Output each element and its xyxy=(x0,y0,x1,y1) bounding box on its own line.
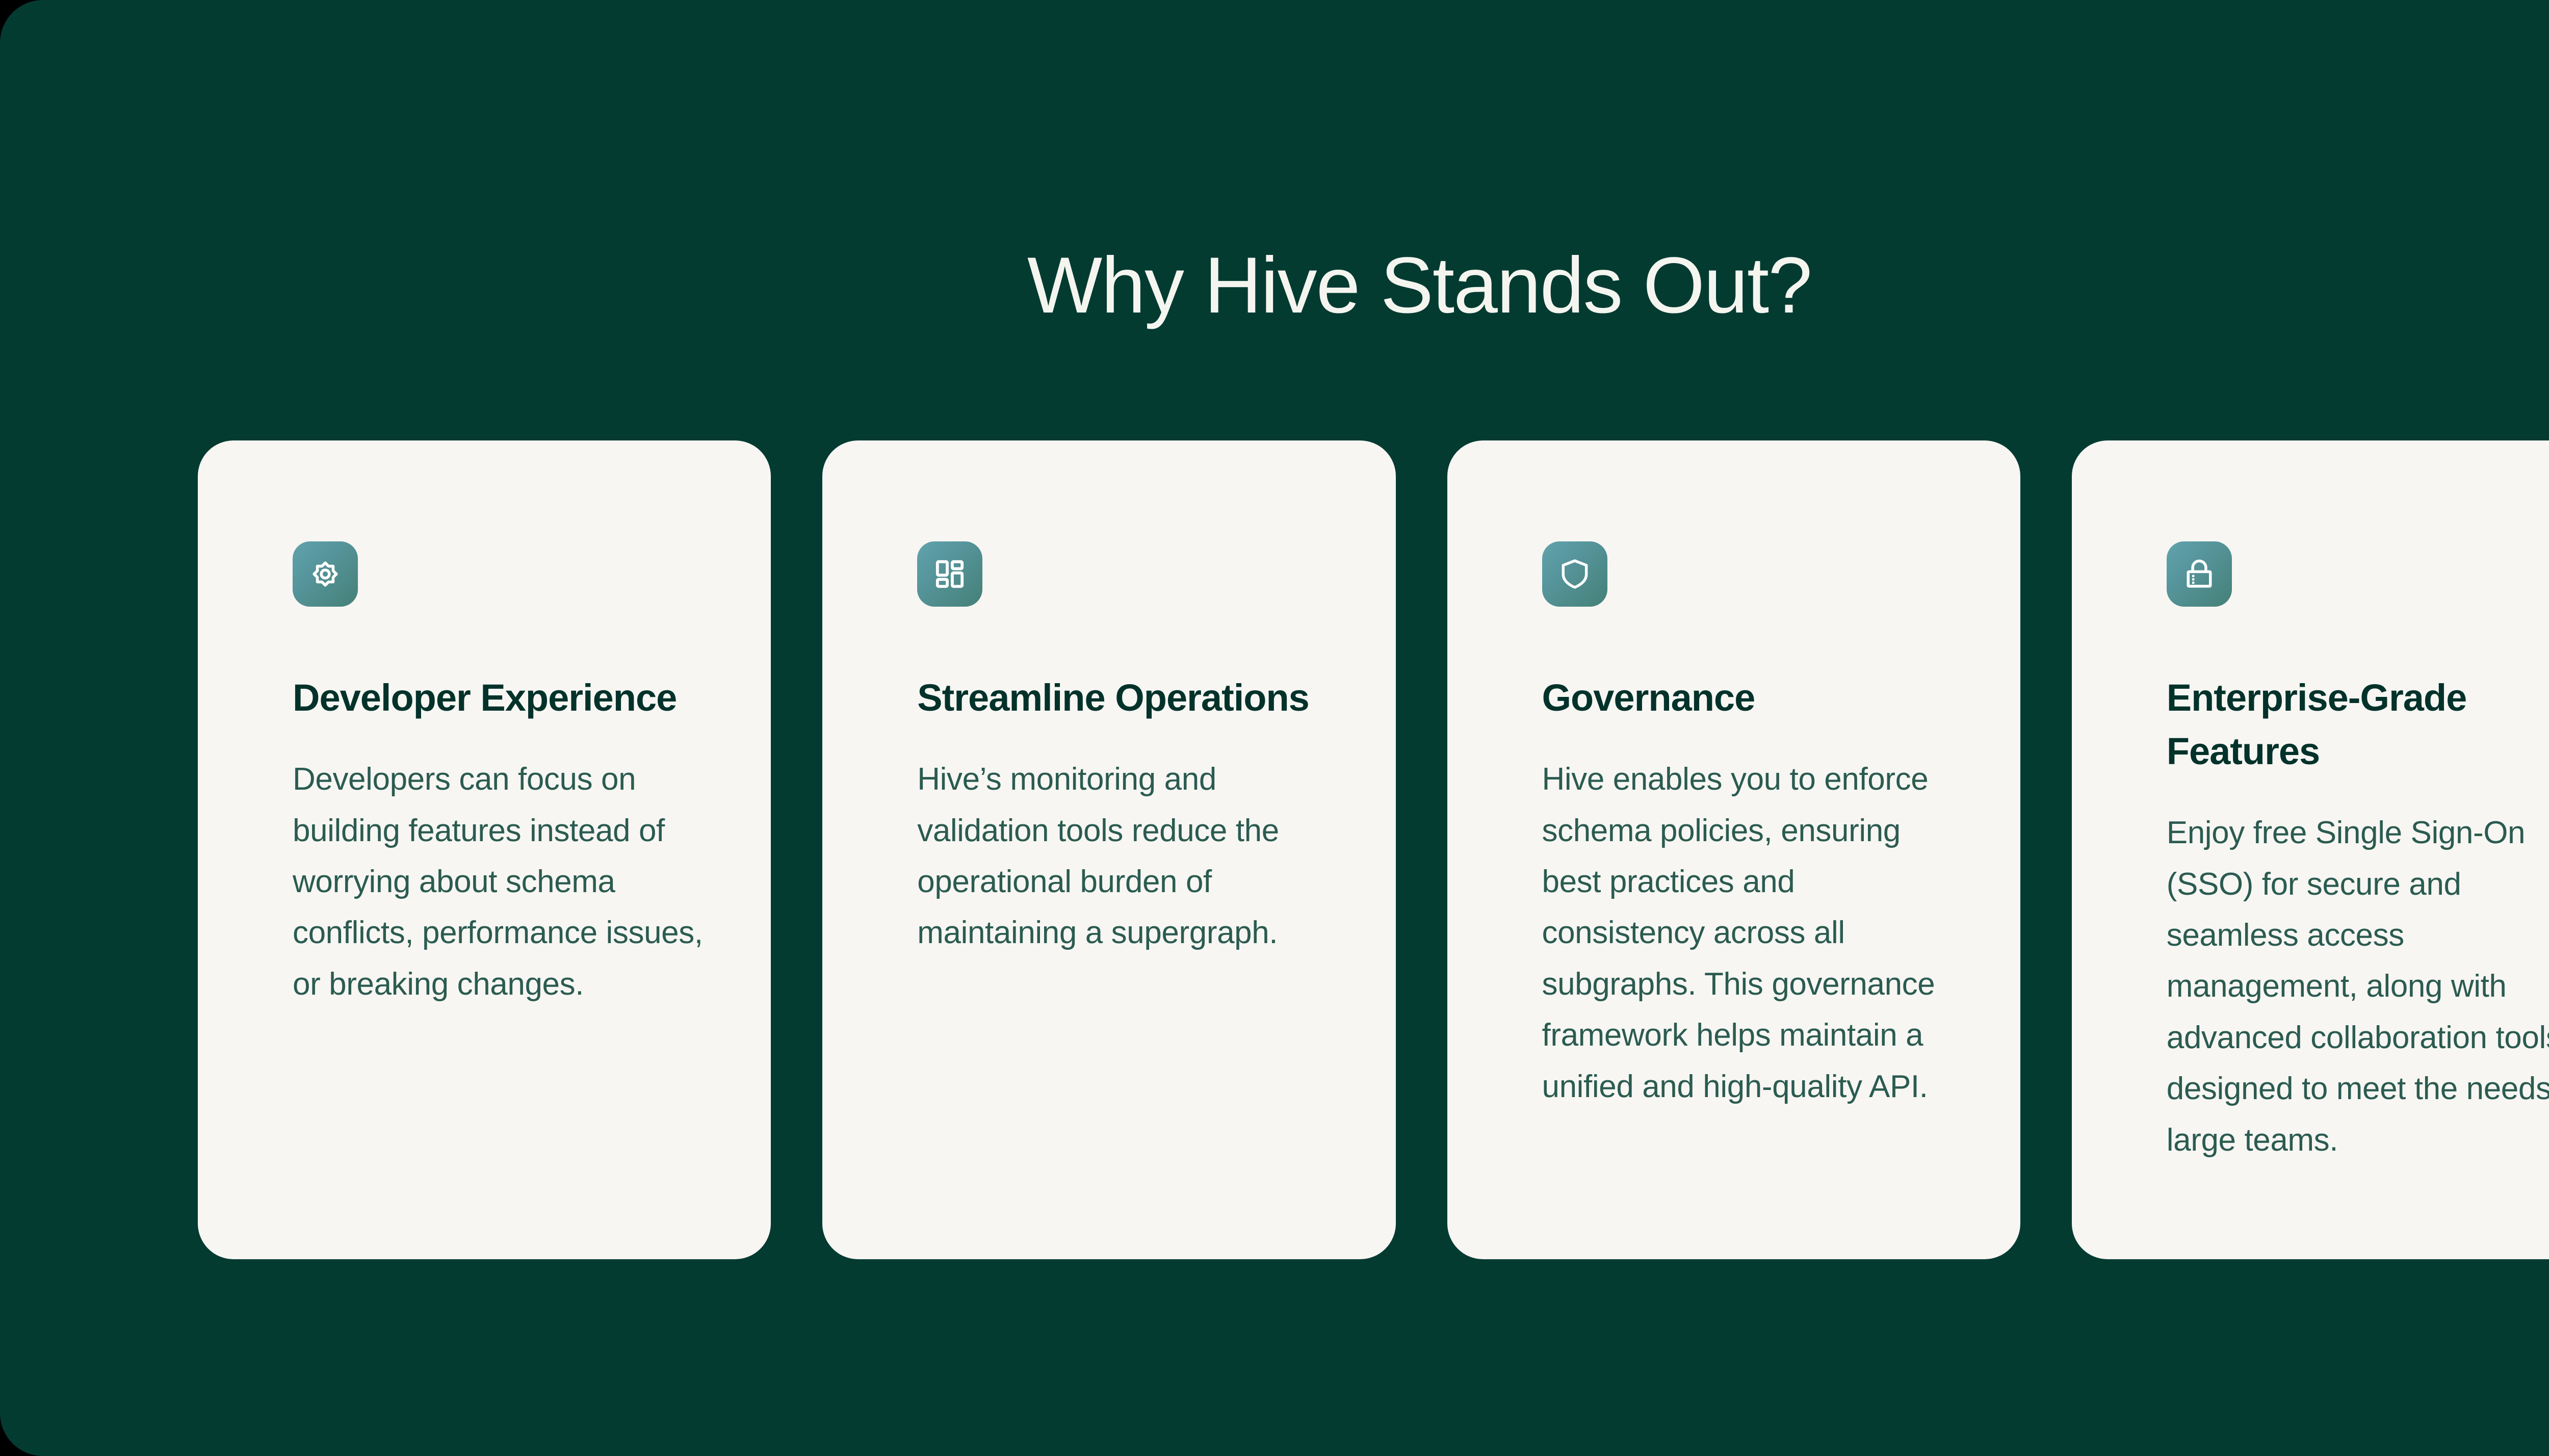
card-content: Governance Hive enables you to enforce s… xyxy=(1542,541,1964,1112)
card-title: Enterprise-Grade Features xyxy=(2167,671,2549,778)
card-title: Developer Experience xyxy=(293,671,715,724)
feature-cards-row: Developer Experience Developers can focu… xyxy=(198,440,2549,1259)
dashboard-grid-icon-tile xyxy=(917,541,982,607)
card-body: Hive’s monitoring and validation tools r… xyxy=(917,754,1339,959)
feature-card-enterprise-grade-features[interactable]: Enterprise-Grade Features Enjoy free Sin… xyxy=(2072,440,2549,1259)
feature-card-developer-experience[interactable]: Developer Experience Developers can focu… xyxy=(198,440,771,1259)
card-title: Governance xyxy=(1542,671,1964,724)
lock-icon-tile xyxy=(2167,541,2232,607)
gear-icon xyxy=(307,556,343,592)
card-content: Enterprise-Grade Features Enjoy free Sin… xyxy=(2167,541,2549,1166)
card-content: Developer Experience Developers can focu… xyxy=(293,541,715,1010)
gear-icon-tile xyxy=(293,541,358,607)
shield-icon xyxy=(1557,557,1592,591)
card-title: Streamline Operations xyxy=(917,671,1339,724)
card-body: Hive enables you to enforce schema polic… xyxy=(1542,754,1964,1112)
page-title: Why Hive Stands Out? xyxy=(0,242,2549,330)
card-body: Enjoy free Single Sign-On (SSO) for secu… xyxy=(2167,808,2549,1166)
card-body: Developers can focus on building feature… xyxy=(293,754,715,1010)
why-hive-stands-out-section: Why Hive Stands Out? Developer Experienc… xyxy=(0,0,2549,1456)
lock-icon xyxy=(2182,557,2216,591)
feature-card-streamline-operations[interactable]: Streamline Operations Hive’s monitoring … xyxy=(822,440,1395,1259)
shield-icon-tile xyxy=(1542,541,1607,607)
card-content: Streamline Operations Hive’s monitoring … xyxy=(917,541,1339,959)
feature-card-governance[interactable]: Governance Hive enables you to enforce s… xyxy=(1447,440,2020,1259)
dashboard-grid-icon xyxy=(933,557,967,591)
